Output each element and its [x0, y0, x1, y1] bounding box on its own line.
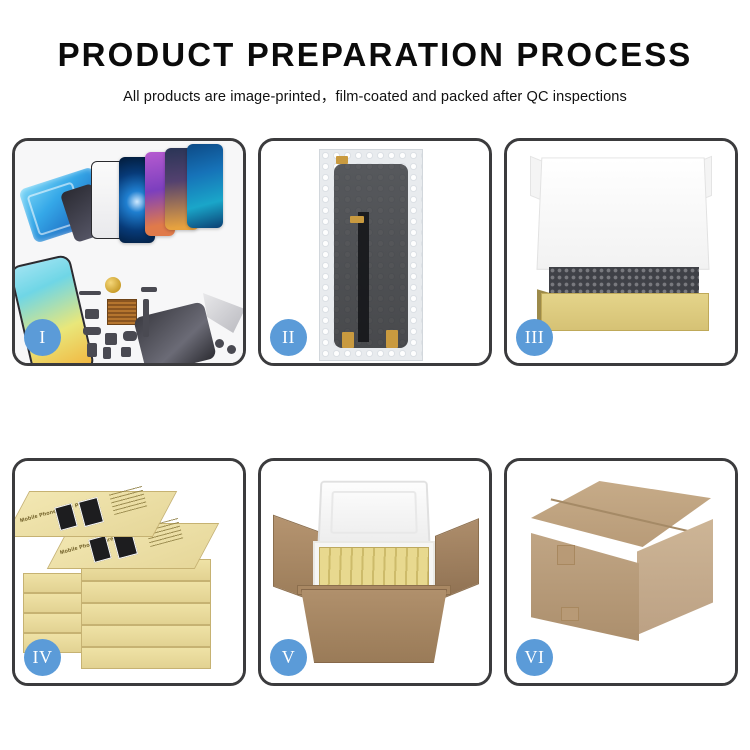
flex-cable-icon: [143, 299, 149, 337]
stacked-box-icon: [81, 581, 211, 603]
part-icon: [123, 331, 137, 341]
packed-boxes-icon: [319, 547, 429, 589]
part-icon: [103, 347, 111, 359]
carton-body-icon: [301, 589, 447, 663]
process-step-panel-5: V: [258, 458, 492, 686]
screw-icon: [227, 345, 236, 354]
part-icon: [121, 347, 131, 357]
product-preparation-infographic: PRODUCT PREPARATION PROCESS All products…: [0, 0, 750, 750]
box-front-icon: [541, 293, 709, 331]
process-step-panel-6: VI: [504, 458, 738, 686]
step-badge-6: VI: [516, 639, 553, 676]
flex-cable-icon: [358, 212, 369, 342]
carton-front-icon: [531, 533, 639, 641]
bubble-wrap-icon: [319, 149, 423, 361]
step-badge-3: III: [516, 319, 553, 356]
step-badge-1: I: [24, 319, 61, 356]
foam-lid-icon: [317, 481, 430, 545]
process-step-panel-2: II: [258, 138, 492, 366]
carton-tape-icon: [557, 545, 575, 565]
speaker-component-icon: [105, 277, 121, 293]
tape-tab-icon: [350, 216, 364, 223]
process-step-panel-4: Mobile Phone Spare Parts Mobile Phone Sp…: [12, 458, 246, 686]
part-icon: [85, 309, 99, 319]
step-badge-4: IV: [24, 639, 61, 676]
screw-icon: [215, 339, 224, 348]
part-icon: [83, 327, 101, 335]
stacked-box-icon: [81, 603, 211, 625]
part-icon: [105, 333, 117, 345]
step-badge-2: II: [270, 319, 307, 356]
process-step-panel-3: III: [504, 138, 738, 366]
page-subtitle: All products are image-printed，film-coat…: [0, 85, 750, 106]
header: PRODUCT PREPARATION PROCESS All products…: [0, 0, 750, 106]
part-icon: [79, 291, 101, 295]
box-lid-icon: [536, 157, 709, 269]
step-badge-5: V: [270, 639, 307, 676]
carton-tape-icon: [561, 607, 579, 621]
process-step-panel-1: I: [12, 138, 246, 366]
tape-tab-icon: [342, 332, 354, 348]
page-title: PRODUCT PREPARATION PROCESS: [0, 38, 750, 71]
part-icon: [87, 343, 97, 357]
process-step-grid: I II: [12, 138, 738, 738]
tape-tab-icon: [386, 330, 398, 348]
part-icon: [141, 287, 157, 292]
phone-screen-icon: [187, 144, 223, 228]
stacked-box-icon: [81, 625, 211, 647]
tape-tab-icon: [336, 156, 348, 164]
stacked-box-icon: [81, 647, 211, 669]
wrapped-screen-icon: [334, 164, 408, 348]
chip-component-icon: [107, 299, 137, 325]
